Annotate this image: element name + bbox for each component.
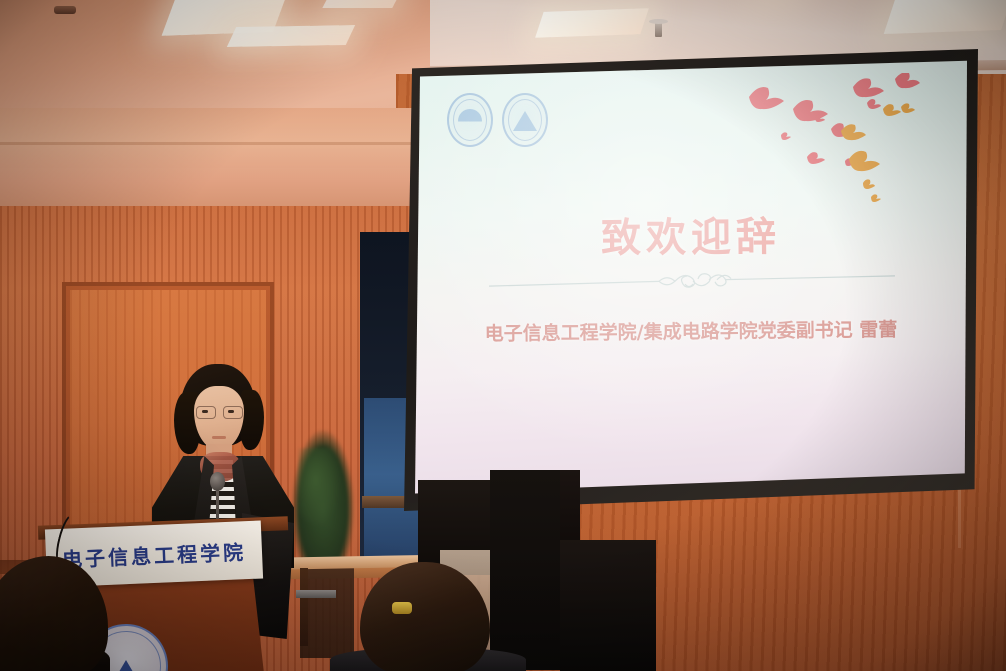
ceiling-light-panel	[227, 25, 355, 47]
presenter-eye	[228, 410, 234, 413]
hair-clip	[392, 602, 412, 614]
university-seal-logo	[447, 93, 493, 147]
institute-seal-logo	[502, 93, 548, 147]
presenter-eye	[202, 410, 208, 413]
microphone-icon	[210, 472, 225, 491]
podium-sign-text: 电子信息工程学院	[61, 536, 246, 573]
upper-wall	[0, 108, 440, 218]
slide-subtitle: 电子信息工程学院/集成电路学院党委副书记 雷蕾	[415, 314, 967, 347]
audience-member	[560, 540, 656, 671]
presenter-hair-right	[240, 390, 264, 450]
presenter-mouth	[212, 436, 226, 439]
table-leg	[300, 568, 308, 646]
lecture-hall-photo: 致欢迎辞 电子信息工程学院/集成电路学院党委副书记 雷蕾	[0, 0, 1006, 671]
background-chair	[300, 568, 354, 658]
slide-title: 致欢迎辞	[415, 203, 967, 266]
stool	[296, 590, 336, 598]
ornamental-divider	[487, 270, 897, 292]
ceiling-light-panel	[535, 8, 649, 38]
smoke-detector-icon	[54, 6, 76, 14]
audience-member	[490, 470, 560, 670]
ceiling-light-panel	[322, 0, 399, 8]
potted-plant	[292, 430, 354, 562]
projection-screen: 致欢迎辞 电子信息工程学院/集成电路学院党委副书记 雷蕾	[404, 49, 978, 511]
slide-logo-group	[447, 93, 548, 147]
emblem-triangle-icon	[106, 660, 146, 671]
slide-surface: 致欢迎辞 电子信息工程学院/集成电路学院党委副书记 雷蕾	[415, 59, 967, 497]
ceiling-light-panel	[884, 0, 1006, 34]
ceiling-sprinkler-icon	[655, 22, 662, 37]
